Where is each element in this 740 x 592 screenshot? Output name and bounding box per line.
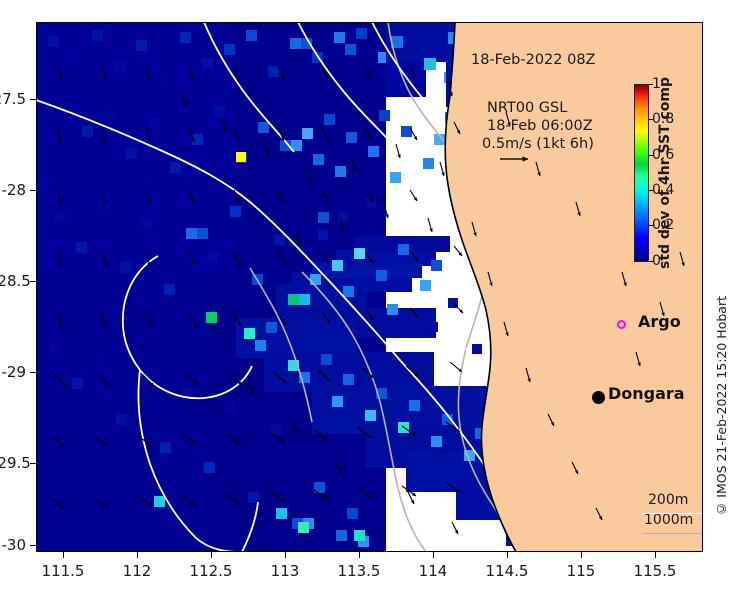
xtick-label-3: 113: [271, 562, 300, 580]
xtick-mark: [137, 552, 138, 558]
xtick-label-5: 114: [419, 562, 448, 580]
ytick-label-0: 27.5: [0, 90, 26, 108]
xtick-mark: [359, 552, 360, 558]
argo-legend-icon: [617, 320, 626, 329]
depth-key-1000m-label: 1000m: [644, 512, 693, 528]
product-name-label: NRT00 GSL: [487, 100, 567, 116]
velocity-scale-label: 0.5m/s (1kt 6h): [482, 136, 594, 152]
xtick-mark: [285, 552, 286, 558]
ytick-mark: [30, 99, 36, 100]
ytick-mark: [30, 190, 36, 191]
xtick-mark: [433, 552, 434, 558]
ytick-mark: [30, 545, 36, 546]
ytick-label-2: -28.5: [0, 272, 26, 290]
timestamp-label: 18-Feb-2022 08Z: [471, 52, 595, 68]
argo-legend-label: Argo: [638, 312, 681, 331]
xtick-label-0: 111.5: [42, 562, 85, 580]
xtick-mark: [581, 552, 582, 558]
ytick-mark: [30, 372, 36, 373]
xtick-label-1: 112: [123, 562, 152, 580]
xtick-mark: [507, 552, 508, 558]
colorbar-title: std dev of 4hr SST comp: [655, 85, 675, 261]
ytick-label-4: -29.5: [0, 454, 26, 472]
depth-key-200m-line: [642, 513, 703, 514]
ytick-label-3: -29: [0, 363, 26, 381]
ytick-mark: [30, 281, 36, 282]
xtick-mark: [655, 552, 656, 558]
credit-label: © IMOS 21-Feb-2022 15:20 Hobart: [714, 296, 729, 517]
depth-key-200m-label: 200m: [648, 492, 688, 508]
sst-composite-map-figure: 18-Feb-2022 08Z NRT00 GSL 18-Feb 06:00Z …: [0, 0, 740, 592]
xtick-label-2: 112.5: [190, 562, 233, 580]
dongara-marker-icon: [592, 391, 605, 404]
map-canvas: [36, 22, 703, 552]
velocity-reference-arrow: [498, 152, 542, 166]
dongara-label: Dongara: [608, 384, 685, 403]
ytick-mark: [30, 463, 36, 464]
ytick-label-5: -30: [0, 536, 26, 554]
xtick-label-6: 114.5: [486, 562, 529, 580]
colorbar[interactable]: [634, 84, 649, 262]
ytick-label-1: -28: [0, 181, 26, 199]
product-time-label: 18-Feb 06:00Z: [487, 118, 593, 134]
xtick-mark: [211, 552, 212, 558]
xtick-mark: [63, 552, 64, 558]
depth-key-1000m-line: [642, 533, 703, 534]
xtick-label-4: 113.5: [338, 562, 381, 580]
map-plot-area[interactable]: 18-Feb-2022 08Z NRT00 GSL 18-Feb 06:00Z …: [36, 22, 703, 552]
xtick-label-8: 115.5: [634, 562, 677, 580]
xtick-label-7: 115: [567, 562, 596, 580]
